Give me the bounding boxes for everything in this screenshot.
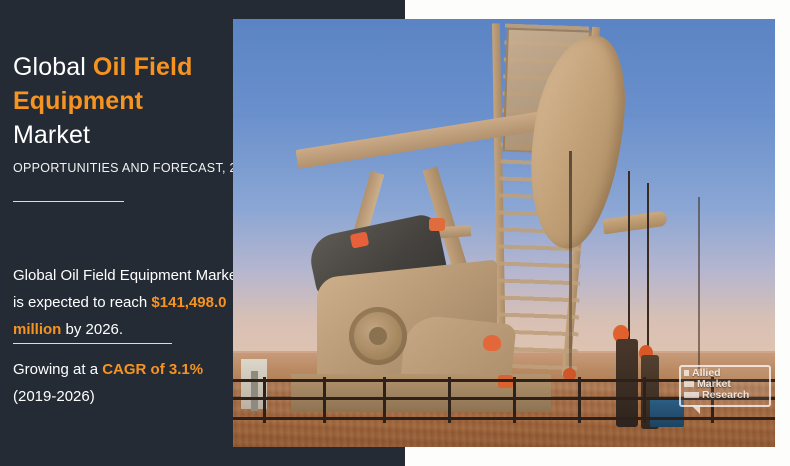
pulley-hub [369, 327, 387, 345]
fence-post [578, 377, 581, 423]
red-marker-2 [429, 218, 445, 231]
bridle-cable-mast [569, 151, 572, 376]
fence-post [323, 377, 326, 423]
divider-top [13, 201, 124, 202]
market-value-trail: by 2026. [61, 321, 123, 338]
watermark-bar-icon [684, 370, 689, 376]
red-marker-3 [483, 335, 501, 351]
fence-post [448, 377, 451, 423]
fence-post [263, 377, 266, 423]
distant-mast-icon [698, 197, 700, 369]
watermark-bar-icon [684, 381, 694, 387]
title-plain-global: Global [13, 53, 93, 81]
watermark-text-research: Research [702, 390, 749, 400]
fence-rail-bottom [233, 417, 775, 420]
watermark-line-3: Research [684, 390, 749, 400]
watermark-text-market: Market [697, 379, 731, 389]
market-value-statement: Global Oil Field Equipment Market is exp… [13, 262, 253, 343]
watermark-line-1: Allied [684, 368, 721, 378]
watermark-bar-icon [684, 392, 699, 398]
cagr-period: (2019-2026) [13, 388, 95, 405]
cagr-highlight: CAGR of 3.1% [102, 361, 203, 378]
infographic-page: Global Oil Field Equipment Market OPPORT… [0, 0, 790, 466]
fence-post [513, 377, 516, 423]
watermark-line-2: Market [684, 379, 731, 389]
fence-post [643, 377, 646, 423]
pumpjack-photo: Allied Market Research [233, 19, 775, 447]
watermark-text-allied: Allied [692, 368, 721, 378]
divider-bottom [13, 343, 172, 344]
allied-market-research-watermark: Allied Market Research [679, 365, 767, 409]
fence-post [383, 377, 386, 423]
cagr-lead: Growing at a [13, 361, 102, 378]
cagr-statement: Growing at a CAGR of 3.1%(2019-2026) [13, 356, 263, 410]
title-highlight-oil-field: Oil Field [93, 53, 193, 81]
